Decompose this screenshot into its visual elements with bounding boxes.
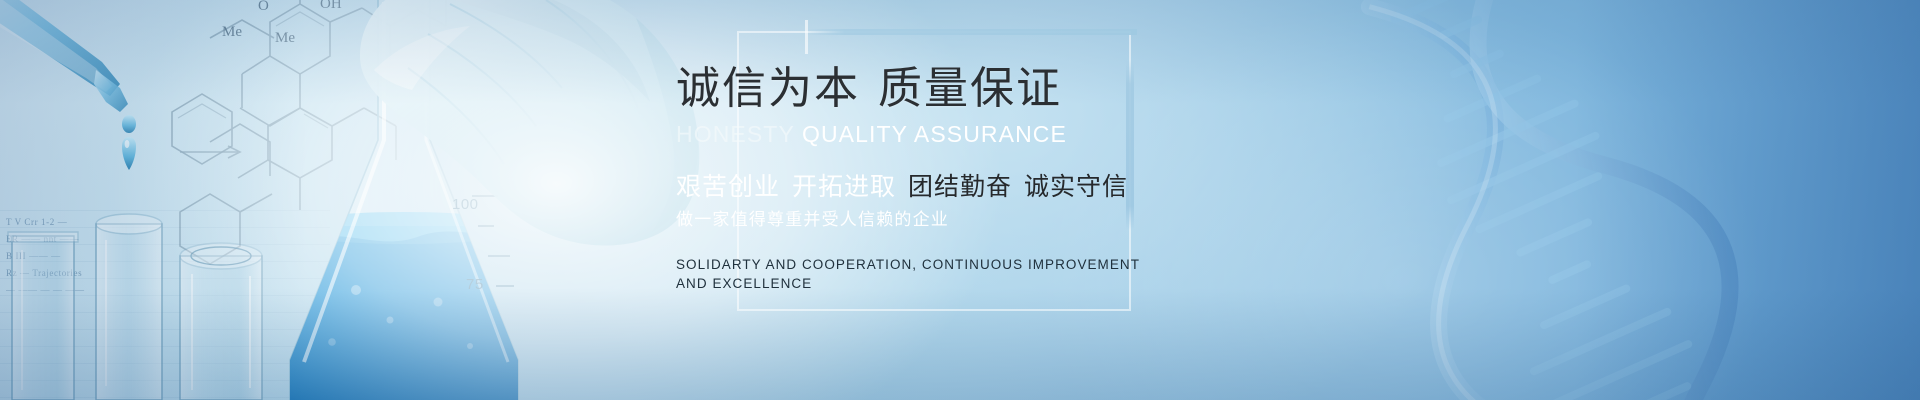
- hero-banner: T V Crr 1-2 — ER —— nnt —— B III —— — Rz…: [0, 0, 1920, 400]
- slogan-seg-1: 艰苦创业: [676, 173, 780, 201]
- headline-part-1: 诚信为本: [676, 64, 860, 113]
- slogan-seg-4: 诚实守信: [1024, 173, 1128, 201]
- subtitle-quality-assurance: QUALITY ASSURANCE: [802, 121, 1067, 147]
- footer-english-line-2: AND EXCELLENCE: [676, 274, 1316, 293]
- slogan-seg-2: 开拓进取: [792, 173, 896, 201]
- slogan-secondary: 做一家值得尊重并受人信赖的企业: [676, 207, 1316, 233]
- decorative-frame-top-gap: [805, 29, 1137, 35]
- subtitle-english: HONESTY QUALITY ASSURANCE: [676, 120, 1316, 148]
- slogan-seg-3: 团结勤奋: [908, 173, 1012, 201]
- subtitle-honesty: HONESTY: [676, 121, 794, 147]
- banner-copy: 诚信为本质量保证 HONESTY QUALITY ASSURANCE 艰苦创业开…: [676, 60, 1316, 293]
- page-title: 诚信为本质量保证: [676, 60, 1316, 118]
- slogan-line: 艰苦创业开拓进取团结勤奋诚实守信: [676, 170, 1316, 204]
- footer-english: SOLIDARTY AND COOPERATION, CONTINUOUS IM…: [676, 255, 1316, 293]
- decorative-frame-tick: [805, 20, 808, 54]
- headline-part-2: 质量保证: [878, 64, 1062, 113]
- footer-english-line-1: SOLIDARTY AND COOPERATION, CONTINUOUS IM…: [676, 255, 1316, 274]
